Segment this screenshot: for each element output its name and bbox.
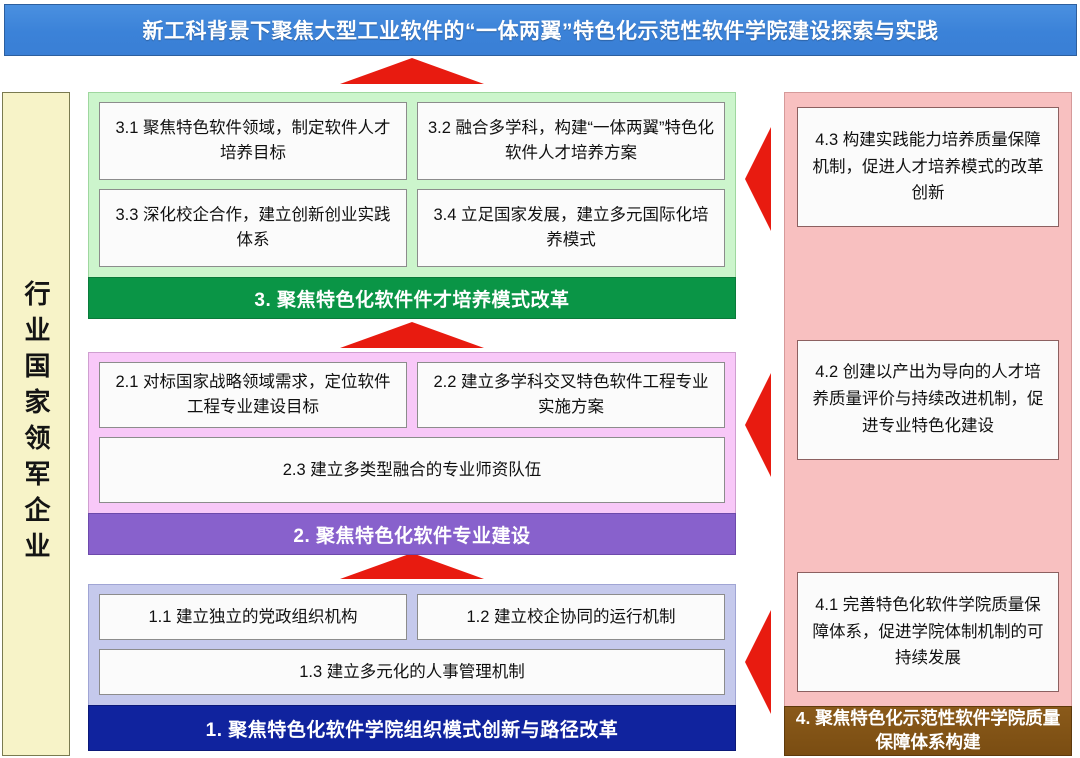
- card-3-2[interactable]: 3.2 融合多学科，构建“一体两翼”特色化软件人才培养方案: [417, 102, 725, 180]
- card-2-2[interactable]: 2.2 建立多学科交叉特色软件工程专业实施方案: [417, 362, 725, 428]
- card-3-3[interactable]: 3.3 深化校企合作，建立创新创业实践体系: [99, 189, 407, 267]
- section-3-card-row-2: 3.3 深化校企合作，建立创新创业实践体系 3.4 立足国家发展，建立多元国际化…: [99, 189, 725, 267]
- arrow-up-section3-to-section2-icon: [340, 322, 484, 348]
- arrow-up-section2-to-section1-icon: [340, 553, 484, 579]
- section-3-block: 3.1 聚焦特色软件领域，制定软件人才培养目标 3.2 融合多学科，构建“一体两…: [88, 92, 736, 319]
- card-1-3[interactable]: 1.3 建立多元化的人事管理机制: [99, 649, 725, 695]
- card-1-1[interactable]: 1.1 建立独立的党政组织机构: [99, 594, 407, 640]
- page-title-bar: 新工科背景下聚焦大型工业软件的“一体两翼”特色化示范性软件学院建设探索与实践: [4, 4, 1077, 56]
- section-4-block: 4.3 构建实践能力培养质量保障机制，促进人才培养模式的改革创新 4.2 创建以…: [784, 92, 1072, 756]
- sidebar-industry-leading-enterprises: 行业国家领军企业: [2, 92, 70, 756]
- section-1-card-row-2: 1.3 建立多元化的人事管理机制: [99, 649, 725, 695]
- card-1-2[interactable]: 1.2 建立校企协同的运行机制: [417, 594, 725, 640]
- section-1-cards: 1.1 建立独立的党政组织机构 1.2 建立校企协同的运行机制 1.3 建立多元…: [88, 584, 736, 705]
- arrow-left-section4-to-section1-icon: [745, 610, 771, 714]
- card-3-4[interactable]: 3.4 立足国家发展，建立多元国际化培养模式: [417, 189, 725, 267]
- section-2-block: 2.1 对标国家战略领域需求，定位软件工程专业建设目标 2.2 建立多学科交叉特…: [88, 352, 736, 555]
- card-4-2[interactable]: 4.2 创建以产出为导向的人才培养质量评价与持续改进机制，促进专业特色化建设: [797, 340, 1059, 460]
- card-4-1[interactable]: 4.1 完善特色化软件学院质量保障体系，促进学院体制机制的可持续发展: [797, 572, 1059, 692]
- section-3-cards: 3.1 聚焦特色软件领域，制定软件人才培养目标 3.2 融合多学科，构建“一体两…: [88, 92, 736, 277]
- card-2-1[interactable]: 2.1 对标国家战略领域需求，定位软件工程专业建设目标: [99, 362, 407, 428]
- arrow-up-to-title-icon: [340, 58, 484, 84]
- section-3-card-row-1: 3.1 聚焦特色软件领域，制定软件人才培养目标 3.2 融合多学科，构建“一体两…: [99, 102, 725, 180]
- section-1-block: 1.1 建立独立的党政组织机构 1.2 建立校企协同的运行机制 1.3 建立多元…: [88, 584, 736, 751]
- card-2-3[interactable]: 2.3 建立多类型融合的专业师资队伍: [99, 437, 725, 503]
- section-3-header[interactable]: 3. 聚焦特色化软件件才培养模式改革: [88, 277, 736, 319]
- section-2-cards: 2.1 对标国家战略领域需求，定位软件工程专业建设目标 2.2 建立多学科交叉特…: [88, 352, 736, 513]
- page-title: 新工科背景下聚焦大型工业软件的“一体两翼”特色化示范性软件学院建设探索与实践: [143, 15, 939, 45]
- card-3-1[interactable]: 3.1 聚焦特色软件领域，制定软件人才培养目标: [99, 102, 407, 180]
- sidebar-label: 行业国家领军企业: [23, 280, 49, 568]
- section-4-cards: 4.3 构建实践能力培养质量保障机制，促进人才培养模式的改革创新 4.2 创建以…: [784, 92, 1072, 706]
- section-1-header[interactable]: 1. 聚焦特色化软件学院组织模式创新与路径改革: [88, 705, 736, 751]
- card-4-3[interactable]: 4.3 构建实践能力培养质量保障机制，促进人才培养模式的改革创新: [797, 107, 1059, 227]
- section-4-header[interactable]: 4. 聚焦特色化示范性软件学院质量保障体系构建: [784, 706, 1072, 756]
- section-2-card-row-1: 2.1 对标国家战略领域需求，定位软件工程专业建设目标 2.2 建立多学科交叉特…: [99, 362, 725, 428]
- section-1-card-row-1: 1.1 建立独立的党政组织机构 1.2 建立校企协同的运行机制: [99, 594, 725, 640]
- section-2-card-row-2: 2.3 建立多类型融合的专业师资队伍: [99, 437, 725, 503]
- arrow-left-section4-to-section2-icon: [745, 373, 771, 477]
- arrow-left-section4-to-section3-icon: [745, 127, 771, 231]
- section-2-header[interactable]: 2. 聚焦特色化软件专业建设: [88, 513, 736, 555]
